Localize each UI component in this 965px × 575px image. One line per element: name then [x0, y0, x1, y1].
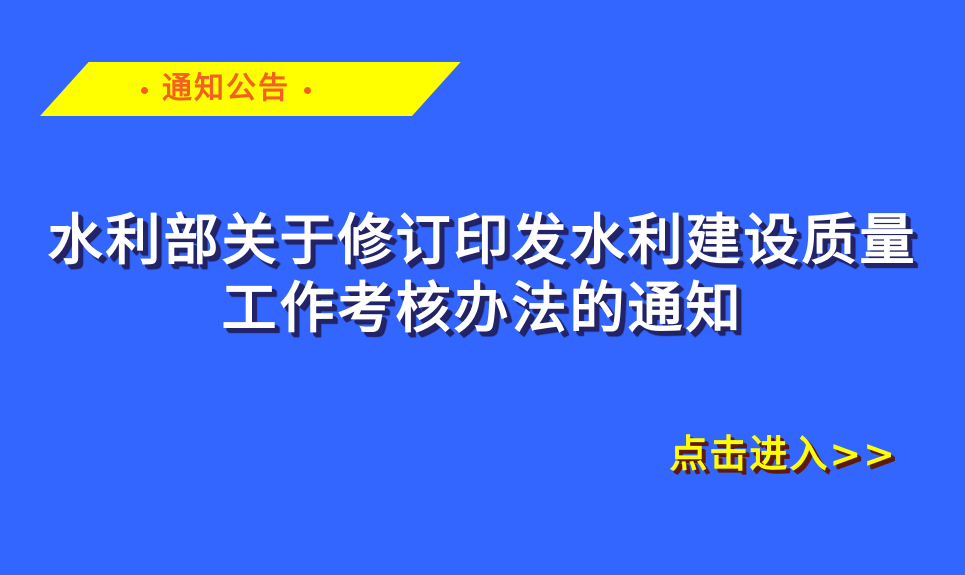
tag-right-dot-icon — [304, 87, 311, 94]
enter-link[interactable]: 点击进入>> — [669, 432, 897, 476]
notice-tag-label: 通知公告 — [162, 74, 290, 104]
tag-left-dot-icon — [141, 87, 148, 94]
page-title: 水利部关于修订印发水利建设质量 工作考核办法的通知 — [0, 206, 965, 342]
notice-banner-stage: 通知公告 水利部关于修订印发水利建设质量 工作考核办法的通知 点击进入>> — [0, 0, 965, 575]
page-title-line-1: 水利部关于修订印发水利建设质量 — [0, 206, 965, 274]
page-title-line-2: 工作考核办法的通知 — [0, 274, 965, 342]
notice-tag: 通知公告 — [40, 62, 412, 116]
